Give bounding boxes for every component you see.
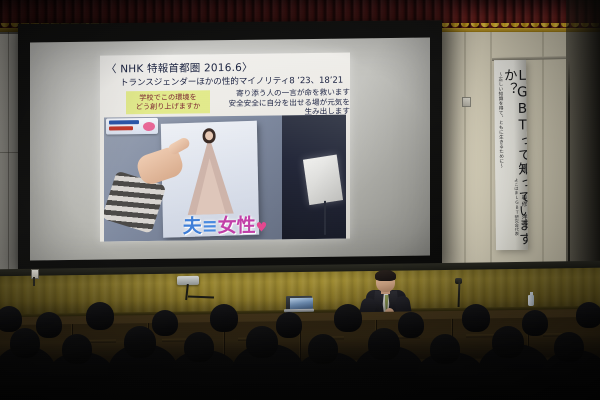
wall-panel-seam (542, 0, 544, 272)
softbox-icon (303, 155, 343, 206)
wall-panel-seam (490, 0, 492, 272)
projected-slide: 〈 NHK 特報首都圏 2016.6〉 トランスジェンダーほかの性的マイノリティ… (100, 53, 350, 242)
wall-panel-seam (464, 0, 466, 272)
slide-right-text-block: 寄り添う人の一言が命を救います 安全安全に自分を出せる場が元気を 生み出します (220, 88, 350, 119)
slide-highlight-line2: どう創り上げますか (136, 102, 201, 111)
outlet-cable (33, 277, 35, 286)
slide-photo: 夫≡女性♥ (104, 115, 346, 242)
caption-equals: ≡ (202, 215, 218, 237)
presenter-hair (375, 270, 396, 281)
hanging-cable (568, 60, 570, 270)
bug-bar-blue (109, 120, 139, 124)
caption-left-word: 夫 (183, 215, 202, 237)
gown-overlay (195, 158, 226, 215)
photo-caption: 夫≡女性♥ (183, 211, 268, 239)
projection-screen: 〈 NHK 特報首都圏 2016.6〉 トランスジェンダーほかの性的マイノリティ… (30, 38, 430, 261)
slide-highlight-box: 学校でこの環境を どう創り上げますか (126, 90, 210, 114)
bug-bar-red (109, 126, 133, 130)
heart-icon: ♥ (256, 221, 268, 236)
broadcast-logo-bug (106, 118, 158, 135)
right-dark-edge (566, 0, 600, 300)
slide-subtitle: トランスジェンダーほかの性的マイノリティ8 ’23、18’21 (120, 74, 348, 89)
caption-right-word: 女性 (218, 215, 256, 237)
student-audience (0, 300, 600, 400)
wall-sign (462, 97, 471, 107)
wall-seam (8, 0, 9, 270)
hand-group (108, 133, 186, 230)
audience-darkening (0, 300, 600, 400)
banner-shadow (494, 60, 528, 250)
screenshot-root: 〈 NHK 特報首都圏 2016.6〉 トランスジェンダーほかの性的マイノリティ… (0, 0, 600, 400)
bug-dot (143, 122, 155, 131)
light-stand (324, 201, 326, 235)
